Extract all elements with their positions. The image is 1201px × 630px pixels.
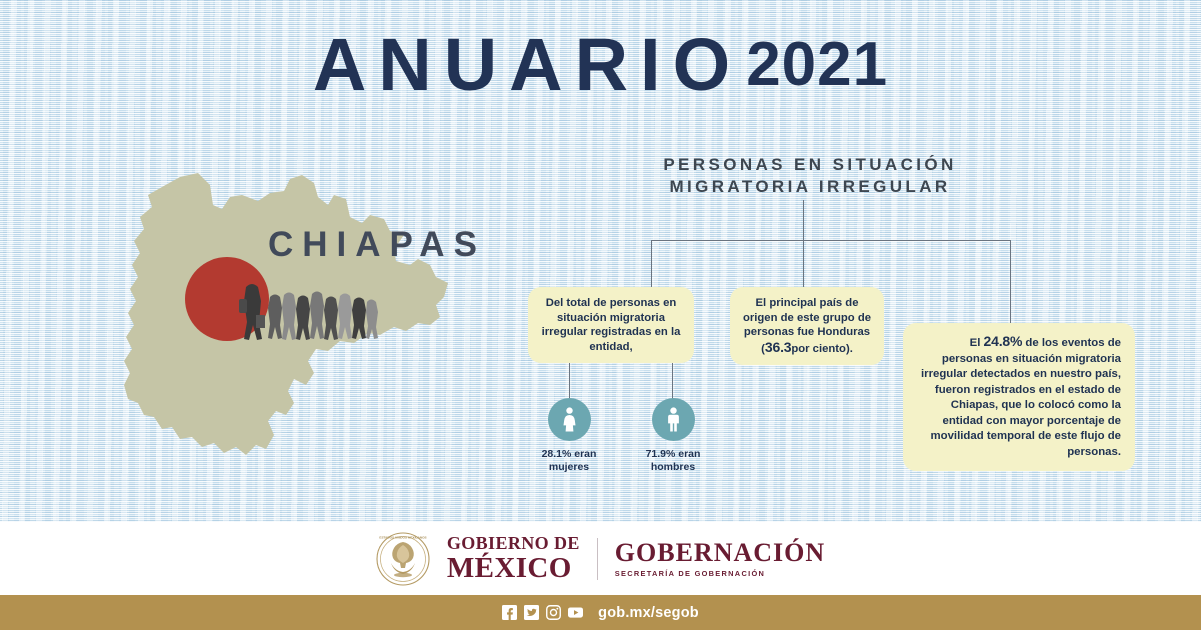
chiapas-state-label: CHIAPAS <box>268 225 486 265</box>
title-year: 2021 <box>746 30 888 99</box>
twitter-icon[interactable] <box>524 605 539 620</box>
callout-porcentaje-eventos: El 24.8% de los eventos de personas en s… <box>903 323 1135 471</box>
migrant-crowd-photo <box>238 281 386 345</box>
female-figure-icon-circle <box>548 398 591 441</box>
mexican-eagle-seal-icon: ESTADOS UNIDOS MEXICANOS <box>376 532 430 586</box>
connector-stem <box>803 200 804 241</box>
title-main: ANUARIO <box>313 23 742 106</box>
connector-crossbar <box>651 240 1011 241</box>
gender-stat-group: hombres <box>613 461 733 474</box>
gender-stat-percent: 28.1% eran <box>509 448 629 461</box>
callout-text-after: de los eventos de personas en situación … <box>921 337 1121 458</box>
gobierno-line2: MÉXICO <box>447 554 580 583</box>
callout-text: Del total de personas en situación migra… <box>542 297 681 353</box>
footer-logos: ESTADOS UNIDOS MEXICANOS GOBIERNO DE MÉX… <box>0 522 1201 595</box>
gender-stat-label: 71.9% eran hombres <box>613 448 733 473</box>
facebook-icon[interactable] <box>502 605 517 620</box>
gobernacion-wordmark: GOBERNACIÓN SECRETARÍA DE GOBERNACIÓN <box>615 540 825 577</box>
callout-text-after: por ciento). <box>791 343 853 355</box>
gobierno-line1: GOBIERNO DE <box>447 534 580 552</box>
gobernacion-line2: SECRETARÍA DE GOBERNACIÓN <box>615 570 825 577</box>
callout-text-before: El <box>970 337 984 349</box>
section-heading: PERSONAS EN SITUACIÓN MIGRATORIA IRREGUL… <box>590 154 1030 198</box>
gobierno-de-mexico-wordmark: GOBIERNO DE MÉXICO <box>447 534 580 583</box>
gender-stat-percent: 71.9% eran <box>613 448 733 461</box>
callout-emphasis: 24.8% <box>984 333 1023 349</box>
section-heading-line1: PERSONAS EN SITUACIÓN <box>590 154 1030 176</box>
connector-drop-center <box>803 240 804 288</box>
connector-drop-right <box>1010 240 1011 324</box>
callout-pais-origen: El principal país de origen de este grup… <box>730 287 884 365</box>
callout-total-registradas: Del total de personas en situación migra… <box>528 287 694 363</box>
chiapas-map-block: CHIAPAS <box>118 165 508 495</box>
male-figure-icon <box>666 407 681 432</box>
social-bar: gob.mx/segob <box>0 595 1201 630</box>
social-bar-url[interactable]: gob.mx/segob <box>598 605 699 621</box>
gender-stat-mujeres: 28.1% eran mujeres <box>509 398 629 473</box>
connector-drop-left <box>651 240 652 288</box>
gender-stat-group: mujeres <box>509 461 629 474</box>
gender-stat-hombres: 71.9% eran hombres <box>613 398 733 473</box>
footer-divider <box>597 538 598 580</box>
instagram-icon[interactable] <box>546 605 561 620</box>
female-figure-icon <box>562 407 577 432</box>
youtube-icon[interactable] <box>568 605 583 620</box>
section-heading-line2: MIGRATORIA IRREGULAR <box>590 176 1030 198</box>
gobernacion-line1: GOBERNACIÓN <box>615 540 825 566</box>
male-figure-icon-circle <box>652 398 695 441</box>
svg-text:ESTADOS UNIDOS MEXICANOS: ESTADOS UNIDOS MEXICANOS <box>379 535 426 539</box>
page-title: ANUARIO2021 <box>0 22 1201 107</box>
callout-emphasis: 36.3 <box>765 339 791 355</box>
gender-stat-label: 28.1% eran mujeres <box>509 448 629 473</box>
